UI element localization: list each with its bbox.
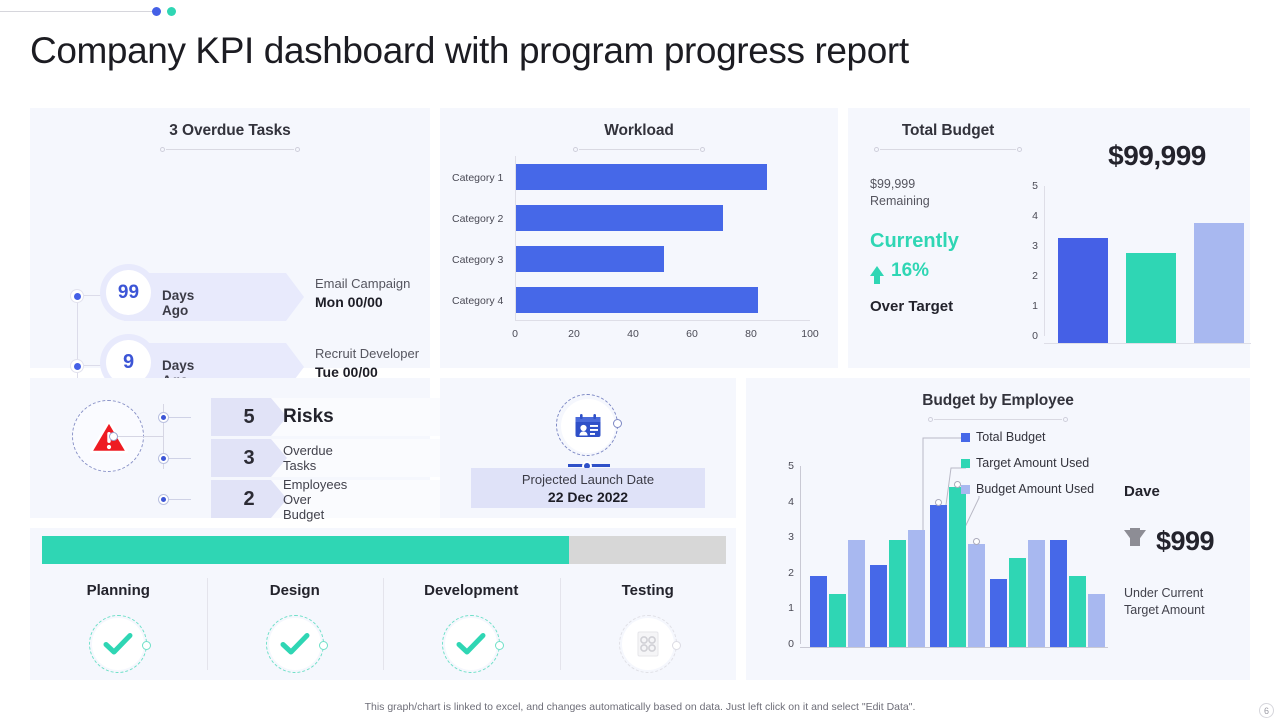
total-budget-bar — [1126, 253, 1176, 343]
employee-bar-group — [990, 540, 1047, 647]
arrow-up-icon — [870, 266, 884, 276]
employee-bar — [1028, 540, 1045, 647]
risk-connector-line — [118, 436, 163, 437]
employee-bar — [968, 544, 985, 647]
panel-budget-by-employee: Budget by Employee 012345 Total BudgetTa… — [746, 378, 1250, 680]
total-budget-y-tick: 3 — [1024, 240, 1038, 252]
page-number: 6 — [1259, 703, 1274, 718]
total-budget-over-target: Over Target — [870, 298, 953, 315]
employee-bar — [870, 565, 887, 647]
employee-bar — [889, 540, 906, 647]
progress-track[interactable] — [42, 536, 726, 564]
total-budget-y-tick: 1 — [1024, 300, 1038, 312]
employee-bar — [1088, 594, 1105, 647]
footer-note: This graph/chart is linked to excel, and… — [0, 701, 1280, 713]
stage-name: Development — [424, 582, 518, 599]
risk-connector-dot — [109, 432, 118, 441]
total-budget-y-tick: 0 — [1024, 330, 1038, 342]
panel-program-stages: PlanningDesignDevelopmentTesting — [30, 528, 736, 680]
risk-count: 2 — [229, 480, 269, 518]
timeline-node-icon — [70, 289, 84, 303]
launch-label: Projected Launch Date — [522, 471, 654, 488]
check-icon — [442, 615, 500, 673]
launch-ring — [556, 394, 618, 456]
stage-columns: PlanningDesignDevelopmentTesting — [30, 572, 736, 680]
legend-item: Budget Amount Used — [961, 482, 1096, 497]
legend-item: Total Budget — [961, 430, 1096, 445]
stage-item[interactable]: Development — [383, 572, 560, 680]
workload-category-label: Category 1 — [452, 172, 510, 184]
workload-category-label: Category 3 — [452, 254, 510, 266]
overdue-panel-title: 3 Overdue Tasks — [30, 122, 430, 140]
risk-count: 5 — [229, 398, 269, 436]
employee-bar — [1069, 576, 1086, 647]
total-budget-y-tick: 2 — [1024, 270, 1038, 282]
employee-y-axis — [800, 466, 801, 644]
risk-node-icon — [158, 412, 169, 423]
header-dot-blue — [152, 7, 161, 16]
stage-name: Testing — [622, 582, 674, 599]
total-budget-panel-title: Total Budget — [858, 122, 1038, 140]
employee-bar — [829, 594, 846, 647]
workload-x-tick: 0 — [512, 328, 518, 340]
risk-row-connector — [169, 499, 191, 500]
employee-y-tick: 3 — [778, 531, 794, 543]
employee-amount: $999 — [1156, 526, 1214, 557]
total-budget-y-axis — [1044, 186, 1045, 336]
stage-item[interactable]: Planning — [30, 572, 207, 680]
employee-bar — [949, 487, 966, 647]
workload-x-tick: 60 — [686, 328, 698, 340]
employee-y-tick: 2 — [778, 567, 794, 579]
legend-swatch — [961, 485, 970, 494]
launch-date-box: Projected Launch Date 22 Dec 2022 — [471, 468, 705, 508]
header-decoration-line — [0, 11, 155, 12]
legend-swatch — [961, 459, 970, 468]
legend-label: Budget Amount Used — [976, 482, 1094, 497]
total-budget-x-axis — [1044, 343, 1251, 344]
total-budget-remaining: $99,999 Remaining — [870, 176, 930, 210]
panel-risks: 5 Risks 3 Overdue Tasks 2 Employees Over… — [30, 378, 430, 518]
employee-bar — [1050, 540, 1067, 647]
stage-item[interactable]: Design — [207, 572, 384, 680]
employee-bar — [1009, 558, 1026, 647]
panel-workload: Workload Category 1Category 2Category 3C… — [440, 108, 838, 368]
check-icon — [266, 615, 324, 673]
title-rule — [160, 145, 300, 154]
employee-caption: Under Current Target Amount — [1124, 585, 1244, 619]
risk-label: Overdue Tasks — [283, 439, 333, 477]
title-rule — [874, 145, 1022, 154]
legend-item: Target Amount Used — [961, 456, 1096, 471]
stage-name: Design — [270, 582, 320, 599]
total-budget-amount: $99,999 — [1072, 140, 1242, 172]
risk-node-icon — [158, 453, 169, 464]
total-budget-y-tick: 4 — [1024, 210, 1038, 222]
employee-name: Dave — [1124, 483, 1244, 500]
workload-x-axis — [515, 320, 810, 321]
stage-item[interactable]: Testing — [560, 572, 737, 680]
stage-name: Planning — [87, 582, 150, 599]
panel-overdue-tasks: 3 Overdue Tasks 99 Days Ago Email Campai… — [30, 108, 430, 368]
employee-y-tick: 0 — [778, 638, 794, 650]
employee-bar-marker — [973, 538, 980, 545]
total-budget-bar — [1058, 238, 1108, 343]
risk-node-icon — [158, 494, 169, 505]
total-budget-currently-label: Currently — [870, 230, 959, 253]
workload-x-tick: 100 — [801, 328, 819, 340]
workload-x-tick: 40 — [627, 328, 639, 340]
workload-category-label: Category 4 — [452, 295, 510, 307]
title-rule — [928, 415, 1068, 424]
total-budget-trend: 16% — [870, 260, 929, 282]
overdue-badge — [124, 273, 304, 321]
risk-row-connector — [169, 458, 191, 459]
employee-y-tick: 1 — [778, 602, 794, 614]
total-budget-y-tick: 5 — [1024, 180, 1038, 192]
total-budget-percent: 16% — [891, 260, 929, 282]
employee-bar — [810, 576, 827, 647]
employee-bar-group — [810, 540, 867, 647]
employee-bar — [908, 530, 925, 647]
employee-y-tick: 5 — [778, 460, 794, 472]
header-dot-teal — [167, 7, 176, 16]
timeline-node-icon — [70, 359, 84, 373]
workload-bar — [516, 246, 664, 272]
employee-bar-group — [1050, 540, 1107, 647]
legend-label: Total Budget — [976, 430, 1046, 445]
employee-bar-group — [870, 530, 927, 647]
employee-summary: Dave $999 Under Current Target Amount — [1124, 483, 1244, 619]
launch-ring-knob — [613, 419, 622, 428]
risk-label: Employees Over Budget — [283, 480, 347, 518]
employee-bar — [930, 505, 947, 647]
workload-bar — [516, 164, 767, 190]
total-budget-chart-plot: 012345 — [1026, 186, 1251, 344]
legend-swatch — [961, 433, 970, 442]
workload-category-label: Category 2 — [452, 213, 510, 225]
risk-row-connector — [169, 417, 191, 418]
workload-x-tick: 20 — [568, 328, 580, 340]
risk-count: 3 — [229, 439, 269, 477]
employee-panel-title: Budget by Employee — [746, 392, 1250, 410]
employee-y-tick: 4 — [778, 496, 794, 508]
workload-bar — [516, 287, 758, 313]
employee-legend: Total BudgetTarget Amount UsedBudget Amo… — [961, 430, 1096, 508]
overdue-count: 99 — [106, 270, 151, 315]
title-rule — [573, 145, 705, 154]
calendar-icon — [561, 399, 615, 453]
workload-chart-plot: Category 1Category 2Category 3Category 4… — [515, 156, 810, 321]
workload-x-tick: 80 — [745, 328, 757, 340]
employee-bar-marker — [954, 481, 961, 488]
progress-fill — [42, 536, 569, 564]
employee-bar — [990, 579, 1007, 647]
workload-panel-title: Workload — [440, 122, 838, 140]
employee-bar-marker — [935, 499, 942, 506]
panel-projected-launch: Projected Launch Date 22 Dec 2022 — [440, 378, 736, 518]
arrow-down-icon — [1124, 530, 1146, 545]
employee-bar — [848, 540, 865, 647]
check-icon — [89, 615, 147, 673]
overdue-days-label: Days Ago — [162, 288, 194, 318]
page-title: Company KPI dashboard with program progr… — [30, 30, 909, 72]
employee-value-row: $999 — [1124, 526, 1244, 557]
slide-canvas: Company KPI dashboard with program progr… — [0, 0, 1280, 720]
launch-date: 22 Dec 2022 — [548, 488, 628, 506]
risk-label: Risks — [283, 398, 334, 436]
employee-x-axis — [800, 647, 1108, 648]
employee-bar-group — [930, 487, 987, 647]
workload-bar — [516, 205, 723, 231]
legend-label: Target Amount Used — [976, 456, 1089, 471]
total-budget-bar — [1194, 223, 1244, 343]
gear-icon — [619, 615, 677, 673]
panel-total-budget: Total Budget $99,999 $99,999 Remaining C… — [848, 108, 1250, 368]
